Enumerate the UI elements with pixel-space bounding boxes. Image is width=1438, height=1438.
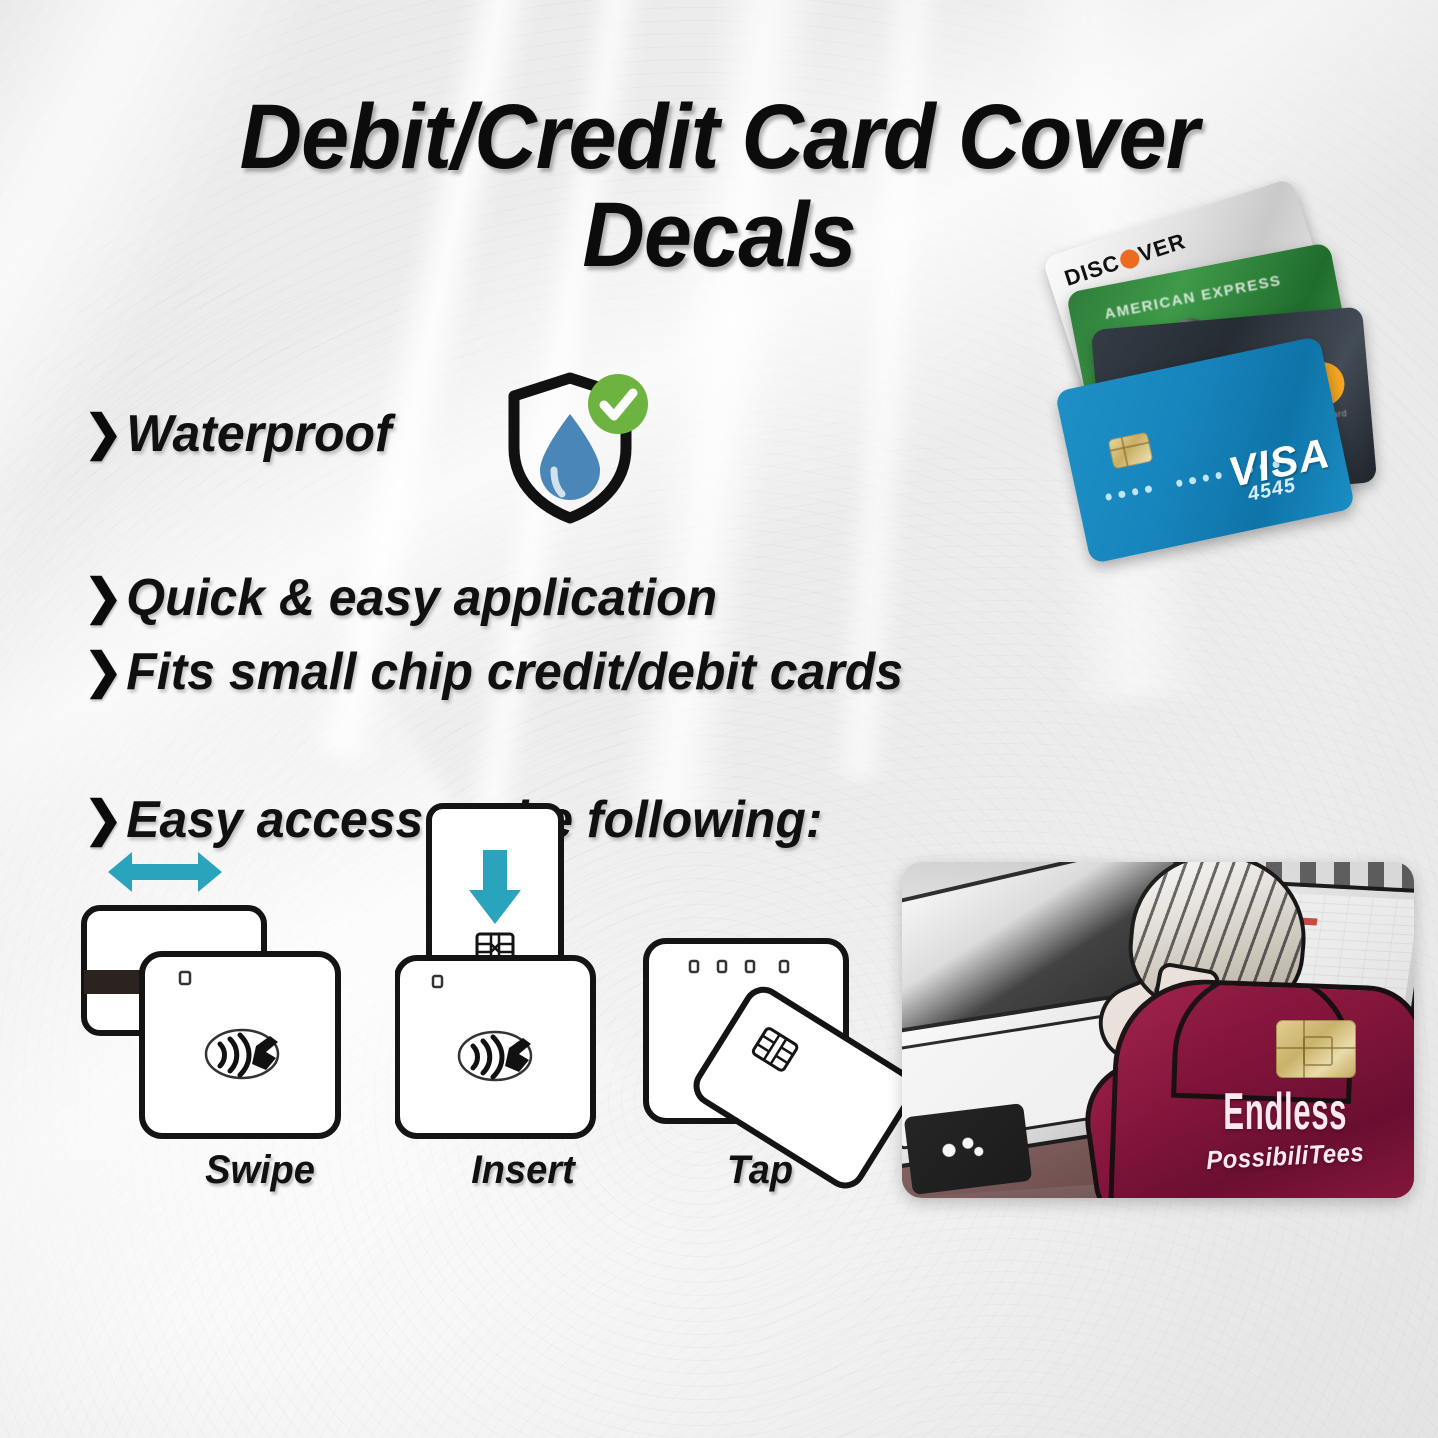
brand-name-secondary: PossibiliTees — [1189, 1136, 1380, 1177]
feature-item-quick-easy: ❯ Quick & easy application — [84, 568, 1102, 628]
product-card-preview: Endless PossibiliTees — [902, 862, 1414, 1198]
method-label-swipe: Swipe — [156, 1148, 365, 1193]
method-insert-illustration — [395, 800, 605, 1165]
page-title-line-1: Debit/Credit Card Cover — [240, 86, 1199, 188]
waterproof-shield-icon — [492, 370, 652, 525]
method-label-insert: Insert — [414, 1148, 633, 1193]
bullet-arrow-icon: ❯ — [84, 574, 126, 622]
product-brand: Endless PossibiliTees — [1182, 1089, 1388, 1172]
payment-methods-group: Swipe Insert Tap — [40, 800, 920, 1230]
bullet-arrow-icon: ❯ — [84, 648, 126, 696]
brand-name-primary: Endless — [1223, 1089, 1347, 1137]
product-card-artwork: Endless PossibiliTees — [902, 862, 1414, 1198]
feature-label: Waterproof — [126, 404, 391, 464]
bullet-arrow-icon: ❯ — [84, 410, 126, 458]
infographic-canvas: Debit/Credit Card Cover Decals ❯ Waterpr… — [0, 0, 1438, 1438]
feature-item-fits-small-chip: ❯ Fits small chip credit/debit cards — [84, 642, 1102, 702]
double-headed-horizontal-arrow-icon — [108, 852, 222, 892]
feature-label: Fits small chip credit/debit cards — [126, 642, 903, 702]
feature-label: Quick & easy application — [126, 568, 717, 628]
method-label-tap: Tap — [665, 1148, 855, 1193]
emv-chip-icon — [1276, 1020, 1356, 1078]
method-swipe-illustration — [70, 830, 370, 1165]
artwork-cutting-mat — [904, 1103, 1033, 1195]
page-title-line-2: Decals — [43, 186, 1395, 284]
page-title: Debit/Credit Card Cover Decals — [43, 88, 1395, 285]
method-tap-illustration — [640, 935, 940, 1240]
visa-logo-text: VISA — [1224, 429, 1334, 497]
